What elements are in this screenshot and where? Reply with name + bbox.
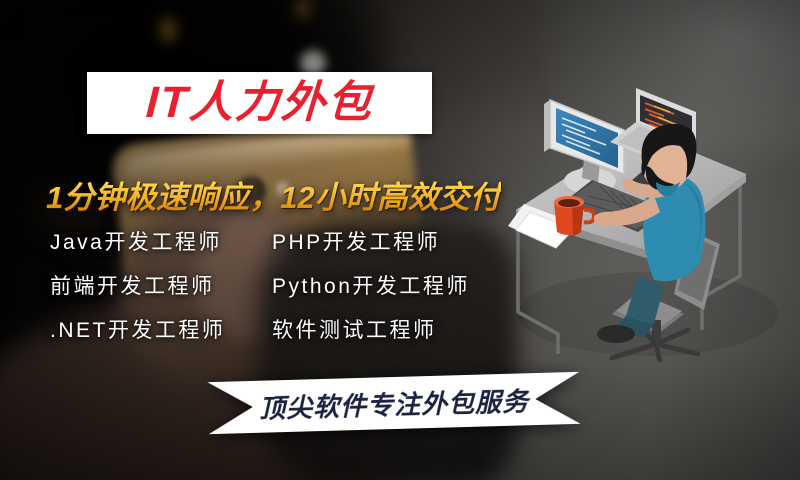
poster-canvas: IT人力外包 1分钟极速响应，12小时高效交付 Java开发工程师 PHP开发工… bbox=[0, 0, 800, 480]
role-item-php: PHP开发工程师 bbox=[272, 226, 520, 256]
role-item-python: Python开发工程师 bbox=[272, 270, 520, 300]
ribbon-label: 顶尖软件专注外包服务 bbox=[207, 372, 580, 434]
monitor-side bbox=[544, 100, 550, 152]
tagline-ribbon: 顶尖软件专注外包服务 bbox=[207, 372, 580, 434]
role-item-qa: 软件测试工程师 bbox=[272, 314, 520, 344]
developer-desk-illustration bbox=[488, 62, 800, 362]
developer-shoe bbox=[597, 325, 635, 343]
headline-banner: IT人力外包 bbox=[87, 72, 432, 134]
page-title: IT人力外包 bbox=[145, 81, 374, 125]
role-item-frontend: 前端开发工程师 bbox=[50, 270, 260, 300]
role-list: Java开发工程师 PHP开发工程师 前端开发工程师 Python开发工程师 .… bbox=[50, 226, 520, 344]
subtitle-text: 1分钟极速响应，12小时高效交付 bbox=[46, 172, 501, 217]
role-item-dotnet: .NET开发工程师 bbox=[50, 314, 260, 344]
role-item-java: Java开发工程师 bbox=[50, 226, 260, 256]
